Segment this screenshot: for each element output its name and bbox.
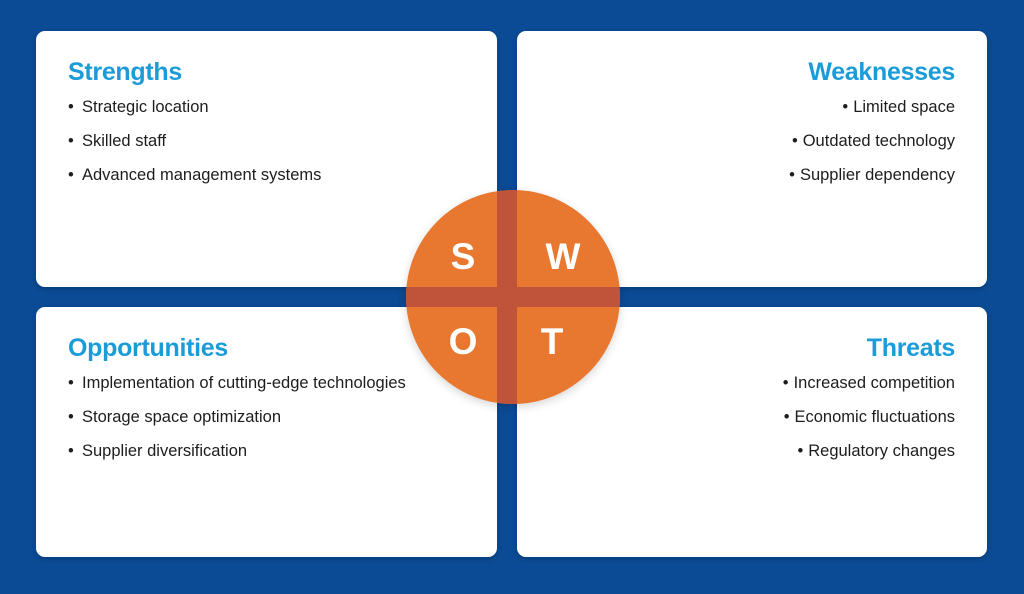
weaknesses-title: Weaknesses: [549, 59, 955, 86]
list-item-label: Implementation of cutting-edge technolog…: [82, 374, 406, 392]
emblem-letter-w: W: [533, 238, 593, 275]
emblem-cross-horizontal: [406, 287, 620, 307]
list-item-label: Storage space optimization: [82, 408, 281, 426]
bullet-icon: •: [789, 166, 795, 184]
list-item-label: Outdated technology: [803, 132, 955, 150]
emblem-letter-o: O: [433, 323, 493, 360]
list-item: •Supplier diversification: [68, 441, 465, 462]
bullet-icon: •: [68, 407, 74, 428]
swot-center-emblem: S W O T: [406, 190, 620, 404]
strengths-title: Strengths: [68, 59, 465, 86]
list-item-label: Increased competition: [794, 374, 955, 392]
list-item-label: Economic fluctuations: [795, 408, 956, 426]
emblem-letter-s: S: [433, 238, 493, 275]
list-item: •Skilled staff: [68, 131, 465, 152]
list-item: •Outdated technology: [549, 131, 955, 152]
list-item-label: Regulatory changes: [808, 442, 955, 460]
list-item: •Economic fluctuations: [549, 407, 955, 428]
list-item: •Limited space: [549, 97, 955, 118]
opportunities-list: •Implementation of cutting-edge technolo…: [68, 373, 465, 462]
strengths-list: •Strategic location •Skilled staff •Adva…: [68, 97, 465, 186]
bullet-icon: •: [784, 408, 790, 426]
emblem-letter-t: T: [522, 323, 582, 360]
list-item-label: Strategic location: [82, 98, 209, 116]
bullet-icon: •: [68, 165, 74, 186]
bullet-icon: •: [68, 441, 74, 462]
list-item-label: Supplier dependency: [800, 166, 955, 184]
bullet-icon: •: [68, 97, 74, 118]
list-item: •Strategic location: [68, 97, 465, 118]
threats-list: •Increased competition •Economic fluctua…: [549, 373, 955, 462]
bullet-icon: •: [792, 132, 798, 150]
list-item: •Advanced management systems: [68, 165, 465, 186]
bullet-icon: •: [783, 374, 789, 392]
swot-diagram: Strengths •Strategic location •Skilled s…: [0, 0, 1024, 594]
bullet-icon: •: [68, 131, 74, 152]
list-item: •Storage space optimization: [68, 407, 465, 428]
list-item-label: Supplier diversification: [82, 442, 247, 460]
list-item: •Increased competition: [549, 373, 955, 394]
list-item: •Supplier dependency: [549, 165, 955, 186]
list-item-label: Advanced management systems: [82, 166, 321, 184]
weaknesses-list: •Limited space •Outdated technology •Sup…: [549, 97, 955, 186]
bullet-icon: •: [797, 442, 803, 460]
bullet-icon: •: [842, 98, 848, 116]
list-item-label: Limited space: [853, 98, 955, 116]
list-item: •Regulatory changes: [549, 441, 955, 462]
opportunities-title: Opportunities: [68, 335, 465, 362]
bullet-icon: •: [68, 373, 74, 394]
list-item-label: Skilled staff: [82, 132, 166, 150]
list-item: •Implementation of cutting-edge technolo…: [68, 373, 412, 394]
